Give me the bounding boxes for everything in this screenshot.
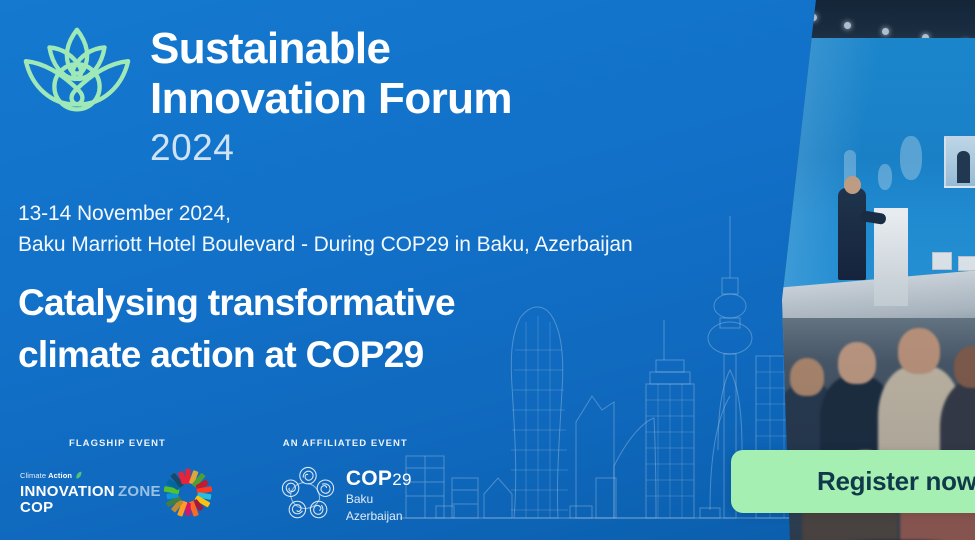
register-now-button[interactable]: Register now (731, 450, 975, 513)
brand-year: 2024 (150, 126, 512, 170)
affiliated-event-label: AN AFFILIATED EVENT (279, 438, 412, 449)
flagship-event-label: FLAGSHIP EVENT (20, 438, 215, 449)
affiliated-event-block: AN AFFILIATED EVENT (279, 438, 412, 524)
innovation-zone-cop-logo: Climate Action INNOVATION ZONE COP (20, 466, 215, 520)
event-dates: 13-14 November 2024, (18, 198, 748, 229)
innovation-zone-words: INNOVATION ZONE (20, 484, 161, 499)
leaf-icon (74, 471, 83, 480)
event-copy: 13-14 November 2024, Baku Marriott Hotel… (18, 198, 748, 381)
event-banner: Sustainable Innovation Forum 2024 13-14 … (0, 0, 975, 540)
climate-action-lockup: Climate Action (20, 471, 161, 480)
floral-ring-icon (279, 466, 337, 524)
register-now-label: Register now (817, 466, 975, 497)
event-headline-line1: Catalysing transformative (18, 277, 748, 329)
event-venue: Baku Marriott Hotel Boulevard - During C… (18, 229, 748, 260)
cop29-city: Baku (346, 492, 412, 506)
cop-number: 29 (392, 471, 412, 488)
cop29-country: Azerbaijan (346, 509, 412, 523)
climate-word: Climate (20, 472, 46, 480)
cop-text: COP (346, 468, 392, 489)
cop29-baku-logo: COP29 Baku Azerbaijan (279, 466, 412, 524)
flagship-event-block: FLAGSHIP EVENT Climate Action INNOVATION (20, 438, 215, 524)
innovation-word: INNOVATION (20, 484, 115, 499)
brand-title-line1: Sustainable (150, 24, 512, 74)
sdg-color-wheel-icon (161, 466, 215, 520)
zone-word: ZONE (118, 484, 161, 499)
action-word: Action (48, 472, 72, 480)
cop29-title: COP29 (346, 468, 412, 489)
brand-wordmark: Sustainable Innovation Forum 2024 (150, 14, 512, 170)
event-headline: Catalysing transformative climate action… (18, 277, 748, 381)
event-headline-line2: climate action at COP29 (18, 329, 748, 381)
brand-lockup: Sustainable Innovation Forum 2024 (18, 14, 512, 170)
lotus-atom-icon (18, 14, 136, 132)
cop-word: COP (20, 500, 161, 515)
partner-logos: FLAGSHIP EVENT Climate Action INNOVATION (20, 438, 412, 524)
brand-title-line2: Innovation Forum (150, 74, 512, 124)
